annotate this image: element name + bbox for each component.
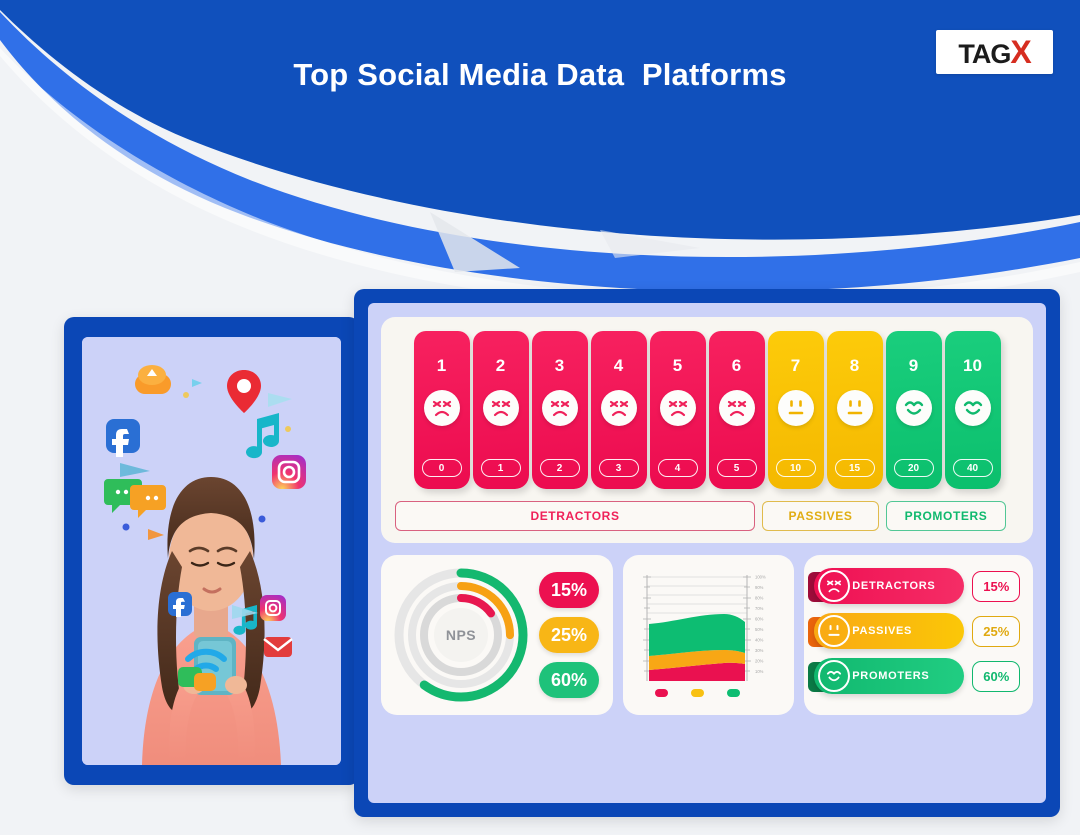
page-title: Top Social Media Data Platforms [0,57,1080,93]
sad-face-icon [542,390,578,426]
logo-text-tag: TAG [958,39,1010,69]
breakdown-row-detractors[interactable]: DETRACTORS 15% [814,568,1023,604]
scale-number: 10 [963,357,982,374]
category-legend-row: DETRACTORS PASSIVES PROMOTERS [393,501,1021,531]
scale-badge: 10 [776,459,816,477]
scale-column-7[interactable]: 7 10 [768,331,824,489]
svg-text:50%: 50% [755,627,764,632]
svg-text:90%: 90% [755,585,764,590]
bar-percent-badge: 60% [972,661,1020,692]
scale-column-9[interactable]: 9 20 [886,331,942,489]
scale-badge: 3 [599,459,639,477]
main-panel-inner: 1 0 2 1 3 [368,303,1046,803]
sad-face-icon [660,390,696,426]
donut-badge-promoters[interactable]: 60% [539,662,599,698]
sad-face-icon [818,570,850,602]
nps-donut-badges: 15% 25% 60% [539,572,599,698]
sad-face-icon [601,390,637,426]
svg-text:20%: 20% [755,659,764,664]
scale-column-1[interactable]: 1 0 [414,331,470,489]
scale-number: 8 [850,357,859,374]
nps-trend-chart: 100%90% 80%70% 60%50% 40%30% 20%10% [629,565,789,705]
scale-column-6[interactable]: 6 5 [709,331,765,489]
scale-column-10[interactable]: 10 40 [945,331,1001,489]
nps-donut-card: NPS 15% 25% 60% [381,555,613,715]
category-detractors[interactable]: DETRACTORS [395,501,755,531]
happy-face-icon [818,660,850,692]
happy-face-icon [896,390,932,426]
nps-scale-columns: 1 0 2 1 3 [393,331,1021,489]
bar-label: PASSIVES [852,625,912,637]
happy-face-icon [955,390,991,426]
logo-text-x: X [1010,34,1030,70]
bar-label: DETRACTORS [852,580,935,592]
infographic-root: Top Social Media Data Platforms TAGX [0,0,1080,835]
bar-pill: DETRACTORS [814,568,964,604]
neutral-face-icon [778,390,814,426]
donut-badge-detractors[interactable]: 15% [539,572,599,608]
svg-text:60%: 60% [755,617,764,622]
scale-badge: 4 [658,459,698,477]
scale-column-4[interactable]: 4 3 [591,331,647,489]
bar-percent-badge: 15% [972,571,1020,602]
brand-logo[interactable]: TAGX [936,30,1053,74]
scale-badge: 5 [717,459,757,477]
facebook-icon-small [168,592,192,617]
scale-number: 3 [555,357,564,374]
photo-image [82,337,341,765]
svg-text:80%: 80% [755,596,764,601]
svg-text:70%: 70% [755,606,764,611]
svg-text:100%: 100% [755,575,766,580]
scale-badge: 40 [953,459,993,477]
sad-face-icon [483,390,519,426]
nps-center-label: NPS [389,563,533,707]
bar-pill: PASSIVES [814,613,964,649]
neutral-face-icon [818,615,850,647]
breakdown-row-promoters[interactable]: PROMOTERS 60% [814,658,1023,694]
email-icon [264,637,292,657]
header-banner: Top Social Media Data Platforms TAGX [0,0,1080,300]
scale-number: 6 [732,357,741,374]
scale-number: 7 [791,357,800,374]
scale-badge: 0 [422,459,462,477]
photo-panel [64,317,359,785]
bottom-cards-row: NPS 15% 25% 60% [381,555,1033,715]
svg-text:10%: 10% [755,669,764,674]
nps-scale-card: 1 0 2 1 3 [381,317,1033,543]
svg-text:30%: 30% [755,648,764,653]
scale-badge: 20 [894,459,934,477]
scale-number: 4 [614,357,623,374]
instagram-icon-small [260,595,286,621]
instagram-icon [272,455,306,489]
scale-number: 2 [496,357,505,374]
category-promoters[interactable]: PROMOTERS [886,501,1006,531]
nps-donut-chart: NPS [389,563,533,707]
scale-badge: 1 [481,459,521,477]
bar-label: PROMOTERS [852,670,929,682]
nps-trend-card: 100%90% 80%70% 60%50% 40%30% 20%10% [623,555,795,715]
scale-badge: 2 [540,459,580,477]
sad-face-icon [719,390,755,426]
scale-column-3[interactable]: 3 2 [532,331,588,489]
scale-number: 9 [909,357,918,374]
nps-breakdown-card: DETRACTORS 15% PASSIVES 25% [804,555,1033,715]
scale-number: 5 [673,357,682,374]
svg-text:40%: 40% [755,638,764,643]
bar-pill: PROMOTERS [814,658,964,694]
scale-column-2[interactable]: 2 1 [473,331,529,489]
bar-percent-badge: 25% [972,616,1020,647]
category-passives[interactable]: PASSIVES [762,501,879,531]
scale-column-5[interactable]: 5 4 [650,331,706,489]
donut-badge-passives[interactable]: 25% [539,617,599,653]
breakdown-row-passives[interactable]: PASSIVES 25% [814,613,1023,649]
facebook-icon [106,419,140,457]
scale-column-8[interactable]: 8 15 [827,331,883,489]
main-panel: 1 0 2 1 3 [354,289,1060,817]
scale-badge: 15 [835,459,875,477]
scale-number: 1 [437,357,446,374]
sad-face-icon [424,390,460,426]
neutral-face-icon [837,390,873,426]
